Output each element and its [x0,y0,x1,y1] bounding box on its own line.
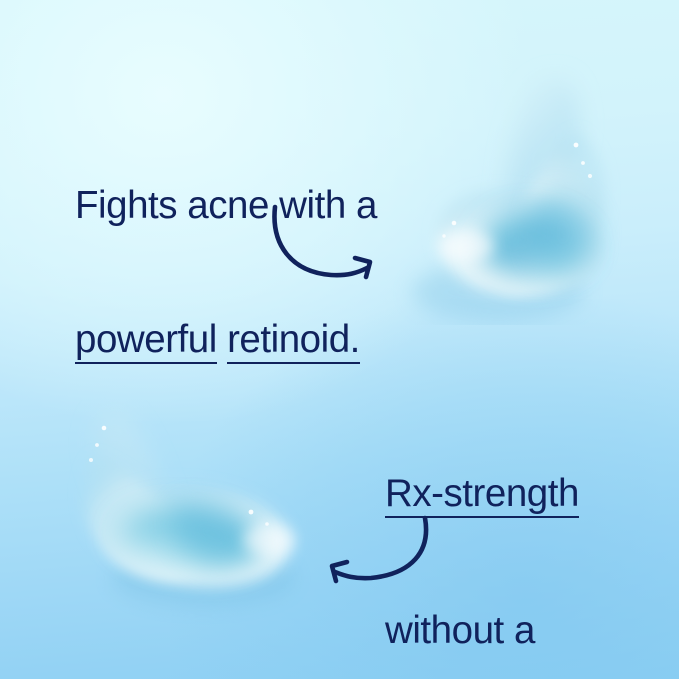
gel-swatch-top-core-secondary [531,190,596,273]
gel-swatch-bottom-highlight [243,524,295,556]
gel-swatch-bottom-core [118,507,263,571]
gel-swatch-top [380,40,630,325]
callout-top-line-2: powerful retinoid. [75,274,377,363]
gel-swatch-bottom-sparkle-4 [249,510,254,515]
callout-top-space [217,318,227,361]
callout-bottom: Rx-strength without a prescription. [385,386,589,679]
gel-swatch-top-sparkle-3 [588,174,592,178]
gel-swatch-top-sparkle-2 [581,161,585,165]
gel-swatch-bottom-tail [93,411,172,540]
callout-bottom-line-2-text: without a [385,609,535,652]
gel-swatch-bottom-shadow [111,550,295,606]
gel-swatch-bottom-sparkle-5 [265,522,269,526]
callout-bottom-line-2: without a [385,566,589,652]
gel-swatch-top-shadow [412,262,584,322]
gel-swatch-bottom [55,400,320,625]
gel-swatch-top-body [437,190,603,297]
gel-swatch-top-upper-lobe [493,132,605,290]
callout-bottom-emphasis-rx-strength: Rx-strength [385,474,579,518]
gel-swatch-bottom-sparkle-1 [102,426,107,431]
gel-swatch-top-sparkle-5 [442,234,445,237]
callout-top: Fights acne with a powerful retinoid. [75,98,377,407]
gel-swatch-bottom-sparkle-3 [89,458,93,462]
callout-top-line-1: Fights acne with a [75,141,377,227]
gel-swatch-bottom-sparkle-2 [95,443,99,447]
gel-swatch-top-tail [503,77,579,227]
callout-top-line-1-text: Fights acne with a [75,184,377,227]
marketing-image-canvas: Fights acne with a powerful retinoid. Rx… [0,0,679,679]
callout-bottom-line-1: Rx-strength [385,429,589,518]
gel-swatch-top-sparkle-4 [452,221,457,226]
gel-swatch-bottom-core-secondary [174,503,252,564]
gel-swatch-top-sparkle-1 [574,143,579,148]
gel-swatch-bottom-body [99,483,290,586]
gel-swatch-top-highlight [438,230,494,262]
callout-top-emphasis-retinoid: retinoid. [227,320,360,364]
gel-swatch-bottom-left-lobe [83,456,203,578]
gel-swatch-top-core [479,212,588,281]
arrow-bottom-head [332,562,347,581]
callout-top-emphasis-powerful: powerful [75,320,217,364]
